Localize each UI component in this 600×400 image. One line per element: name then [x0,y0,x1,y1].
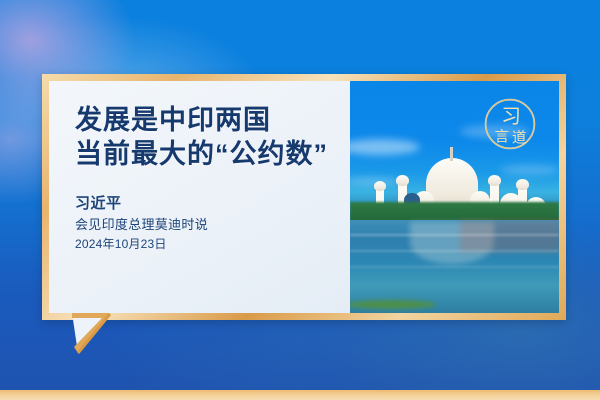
quote-date: 2024年10月23日 [75,235,350,254]
cloud-icon [350,139,420,155]
bottom-gold-band [0,390,600,400]
minaret-dome [374,181,386,191]
attribution-block: 习近平 会见印度总理莫迪时说 2024年10月23日 [75,193,350,254]
seal-top-char: 习 [501,105,521,128]
xi-yan-dao-seal-icon: 习 言 道 [481,95,539,153]
water-ripple [350,234,559,236]
quote-title-line-2: 当前最大的“公约数” [75,137,350,171]
quote-card: 发展是中印两国 当前最大的“公约数” 习近平 会见印度总理莫迪时说 2024年1… [42,74,566,320]
text-panel: 发展是中印两国 当前最大的“公约数” 习近平 会见印度总理莫迪时说 2024年1… [49,81,350,313]
cloud-icon [500,165,559,175]
taj-mahal-photo: 习 言 道 [350,81,559,313]
water-ripple [350,266,559,268]
minaret-dome [516,179,529,190]
minaret-dome [488,175,501,186]
grass-bank [350,300,436,309]
water-ripple [350,250,559,252]
speaker-name: 习近平 [75,193,350,215]
dome-finial [450,147,453,161]
speech-bubble-tail [72,313,116,355]
seal-char-dao: 道 [512,130,527,147]
occasion-text: 会见印度总理莫迪时说 [75,215,350,235]
yamuna-river [350,220,559,313]
quote-title-line-1: 发展是中印两国 [75,103,350,137]
minaret-dome [396,175,409,186]
sandstone-reflection [460,220,559,252]
seal-char-yan: 言 [495,128,510,145]
